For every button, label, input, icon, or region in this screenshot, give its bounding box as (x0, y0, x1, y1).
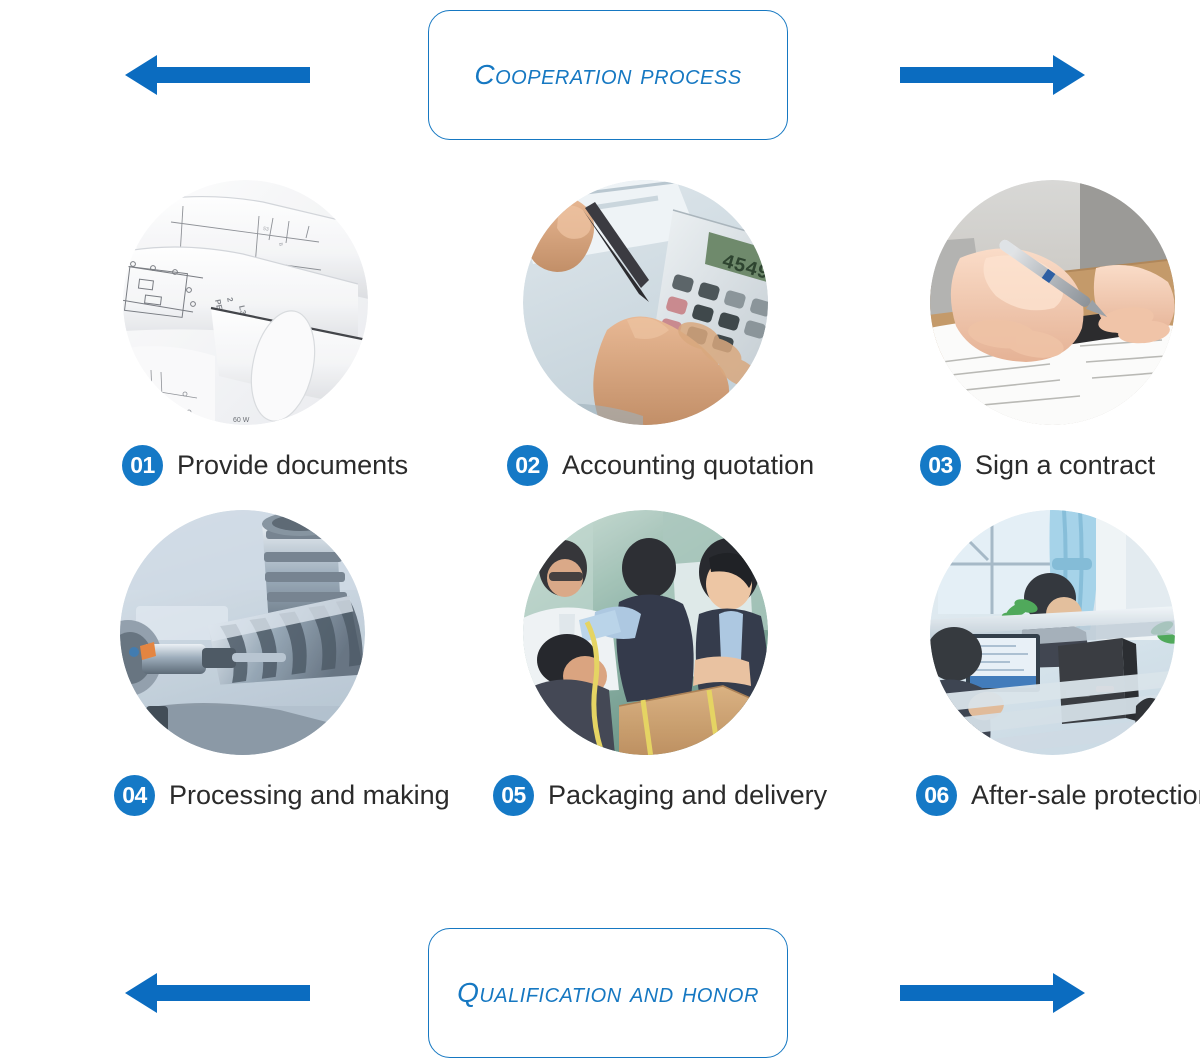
step-label-06: After-sale protection (971, 780, 1200, 811)
banner-cooperation-process: Cooperation process (0, 10, 1200, 140)
step-badge-04: 04 (114, 775, 155, 816)
step-label-01: Provide documents (177, 450, 408, 481)
step-item-05[interactable]: 05 Packaging and delivery (455, 510, 835, 830)
step-caption-03: 03 Sign a contract (920, 445, 1155, 486)
step-item-06[interactable]: 06 After-sale protection (860, 510, 1200, 830)
step-badge-05: 05 (493, 775, 534, 816)
cnc-machining-photo (120, 510, 365, 755)
step-row-2: 04 Processing and making (0, 510, 1200, 830)
step-item-02[interactable]: 4549 (455, 180, 835, 510)
step-label-05: Packaging and delivery (548, 780, 827, 811)
step-item-01[interactable]: 53 B (50, 180, 430, 510)
step-row-1: 53 B (0, 180, 1200, 510)
process-steps: 53 B (0, 180, 1200, 830)
banner-title-box-bottom: Qualification and honor (428, 928, 788, 1058)
rolled-blueprints-photo: 53 B (123, 180, 368, 425)
arrow-left-icon (125, 970, 310, 1016)
banner-qualification-and-honor: Qualification and honor (0, 928, 1200, 1058)
hands-calculator-photo: 4549 (523, 180, 768, 425)
step-label-04: Processing and making (169, 780, 450, 811)
step-label-03: Sign a contract (975, 450, 1155, 481)
arrow-left-icon (125, 52, 310, 98)
step-caption-02: 02 Accounting quotation (507, 445, 814, 486)
warehouse-packing-photo (523, 510, 768, 755)
step-badge-06: 06 (916, 775, 957, 816)
hand-signing-document-photo (930, 180, 1175, 425)
step-caption-05: 05 Packaging and delivery (493, 775, 827, 816)
office-workers-photo (930, 510, 1175, 755)
step-item-04[interactable]: 04 Processing and making (50, 510, 430, 830)
arrow-right-icon (900, 52, 1085, 98)
step-caption-04: 04 Processing and making (114, 775, 450, 816)
step-item-03[interactable]: 03 Sign a contract (860, 180, 1200, 510)
banner-title-top: Cooperation process (474, 59, 741, 91)
step-badge-03: 03 (920, 445, 961, 486)
step-badge-02: 02 (507, 445, 548, 486)
step-label-02: Accounting quotation (562, 450, 814, 481)
step-caption-01: 01 Provide documents (122, 445, 408, 486)
banner-title-box-top: Cooperation process (428, 10, 788, 140)
banner-title-bottom: Qualification and honor (457, 977, 759, 1009)
arrow-right-icon (900, 970, 1085, 1016)
step-badge-01: 01 (122, 445, 163, 486)
step-caption-06: 06 After-sale protection (916, 775, 1200, 816)
svg-text:b1: b1 (183, 415, 191, 422)
